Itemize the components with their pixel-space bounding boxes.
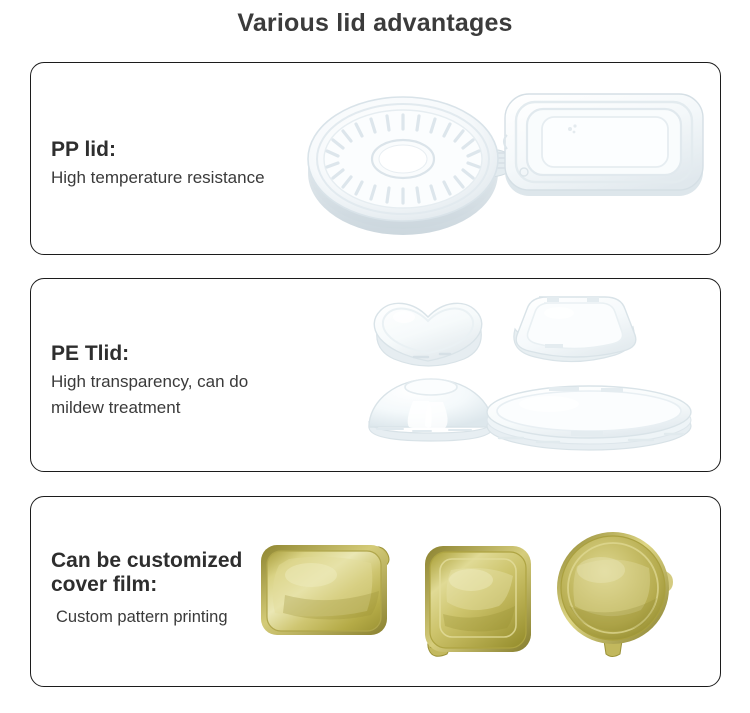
round-gold-foil-lid-image xyxy=(551,530,683,658)
oval-pe-lid-image xyxy=(479,374,701,456)
pe-lid-heading: PE Tlid: xyxy=(51,342,248,366)
feature-card-cover-film: Can be customized cover film: Custom pat… xyxy=(30,496,721,687)
pp-lid-subtext: High temperature resistance xyxy=(51,165,265,191)
feature-card-pp-lid: PP lid: High temperature resistance xyxy=(30,62,721,255)
rectangular-gold-foil-lid-image xyxy=(259,535,399,647)
cover-film-heading: Can be customized cover film: xyxy=(51,549,242,596)
heart-pe-lid-image xyxy=(358,287,498,377)
rectangular-pp-lid-image xyxy=(499,75,714,225)
square-pe-lid-image xyxy=(499,283,649,375)
cover-film-subtext: Custom pattern printing xyxy=(51,605,242,631)
page-title: Various lid advantages xyxy=(0,9,750,38)
round-pp-lid-image xyxy=(303,81,521,241)
pe-lid-subtext: High transparency, can do mildew treatme… xyxy=(51,369,248,422)
square-gold-foil-lid-image xyxy=(421,542,539,660)
pe-lid-text-block: PE Tlid: High transparency, can do milde… xyxy=(51,342,248,421)
cover-film-text-block: Can be customized cover film: Custom pat… xyxy=(51,549,242,631)
product-feature-page: Various lid advantages PP lid: High temp… xyxy=(0,0,750,713)
pp-lid-text-block: PP lid: High temperature resistance xyxy=(51,138,265,191)
feature-card-pe-lid: PE Tlid: High transparency, can do milde… xyxy=(30,278,721,472)
pp-lid-heading: PP lid: xyxy=(51,138,265,162)
